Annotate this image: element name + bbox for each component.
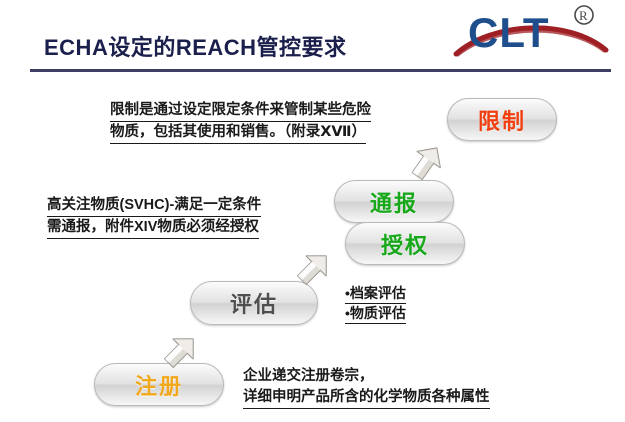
evaluation-bullet-1: •档案评估: [345, 284, 406, 304]
evaluation-bullet-list: •档案评估 •物质评估: [345, 284, 406, 324]
clt-logo: CLT R: [452, 2, 620, 64]
slide-canvas: ECHA设定的REACH管控要求 CLT R 限制是通过设定限定条件来管制某些危…: [0, 0, 625, 422]
svhc-description-line-2: 需通报，附件XIV物质必须经授权: [47, 217, 259, 239]
step-authorization[interactable]: 授权: [345, 222, 465, 265]
restriction-description-line-1: 限制是通过设定限定条件来管制某些危险: [110, 100, 371, 122]
registration-description: 企业递交注册卷宗， 详细申明产品所含的化学物质各种属性: [243, 366, 490, 409]
step-evaluation-label: 评估: [230, 287, 278, 319]
registration-description-line-1: 企业递交注册卷宗，: [243, 366, 490, 387]
registration-description-line-2: 详细申明产品所含的化学物质各种属性: [243, 387, 490, 409]
svhc-description-line-1: 高关注物质(SVHC)-满足一定条件: [47, 195, 261, 217]
step-authorization-label: 授权: [381, 228, 429, 260]
svg-text:CLT: CLT: [468, 9, 550, 56]
restriction-description: 限制是通过设定限定条件来管制某些危险 物质，包括其使用和销售。（附录ⅩⅦ）: [110, 100, 371, 144]
up-right-arrow-register-to-evaluate: [158, 331, 204, 371]
restriction-description-line-2: 物质，包括其使用和销售。（附录ⅩⅦ）: [110, 122, 366, 144]
up-right-arrow-evaluate-to-authorize: [291, 248, 337, 288]
step-notification-label: 通报: [370, 186, 418, 218]
up-right-arrow-notify-to-restriction: [404, 142, 450, 182]
step-restriction[interactable]: 限制: [447, 98, 557, 141]
step-notification[interactable]: 通报: [334, 180, 454, 223]
slide-header: ECHA设定的REACH管控要求 CLT R: [0, 0, 625, 72]
svhc-description: 高关注物质(SVHC)-满足一定条件 需通报，附件XIV物质必须经授权: [47, 195, 261, 239]
step-registration-label: 注册: [135, 369, 183, 401]
step-restriction-label: 限制: [478, 104, 526, 136]
evaluation-bullet-2: •物质评估: [345, 304, 406, 324]
title-divider: [30, 69, 611, 72]
svg-text:R: R: [579, 8, 588, 23]
page-title: ECHA设定的REACH管控要求: [44, 30, 347, 62]
